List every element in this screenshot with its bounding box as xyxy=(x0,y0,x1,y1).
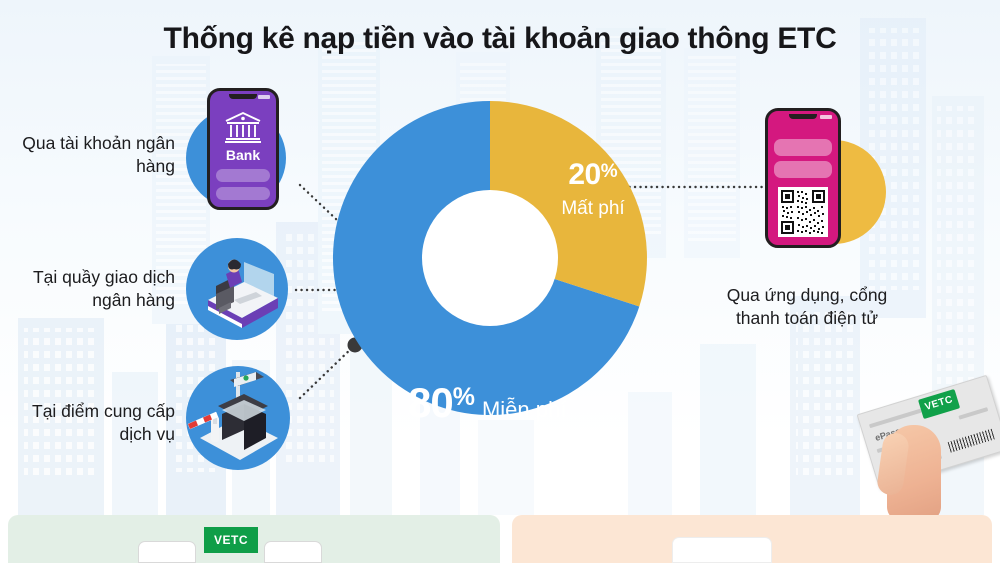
phone-row-2 xyxy=(216,187,270,200)
phone-bank-account: Bank xyxy=(207,88,279,210)
signal-icon xyxy=(820,115,832,119)
phone-notch-icon xyxy=(789,114,817,119)
bottom-card-peach xyxy=(672,537,772,563)
phone-epayment-app xyxy=(765,108,841,248)
service-point-icon xyxy=(186,366,290,470)
signal-icon xyxy=(258,95,270,99)
barcode-icon xyxy=(948,429,995,453)
label-bank-counter: Tại quầy giao dịch ngân hàng xyxy=(12,266,175,313)
vetc-logo-bottom: VETC xyxy=(204,527,258,553)
bottom-card-left xyxy=(138,541,196,563)
center-illustration: ePass VETC xyxy=(425,193,555,323)
label-service-point: Tại điểm cung cấp dịch vụ xyxy=(10,400,175,447)
page-title: Thống kê nạp tiền vào tài khoản giao thô… xyxy=(0,22,1000,56)
qr-code-icon xyxy=(778,187,828,237)
label-bank-account: Qua tài khoản ngân hàng xyxy=(20,132,175,179)
bank-counter-icon xyxy=(186,238,288,340)
phone-row-2 xyxy=(774,161,831,178)
phone-bank-label: Bank xyxy=(210,147,276,163)
phone-notch-icon xyxy=(229,94,257,99)
infographic-canvas: Thống kê nạp tiền vào tài khoản giao thô… xyxy=(0,0,1000,563)
bank-building-icon xyxy=(223,110,263,144)
vetc-logo-badge: VETC xyxy=(918,389,960,419)
label-epayment: Qua ứng dụng, cổng thanh toán điện tử xyxy=(718,284,896,331)
phone-row-1 xyxy=(774,139,831,156)
phone-row-1 xyxy=(216,169,270,182)
bottom-card-right xyxy=(264,541,322,563)
